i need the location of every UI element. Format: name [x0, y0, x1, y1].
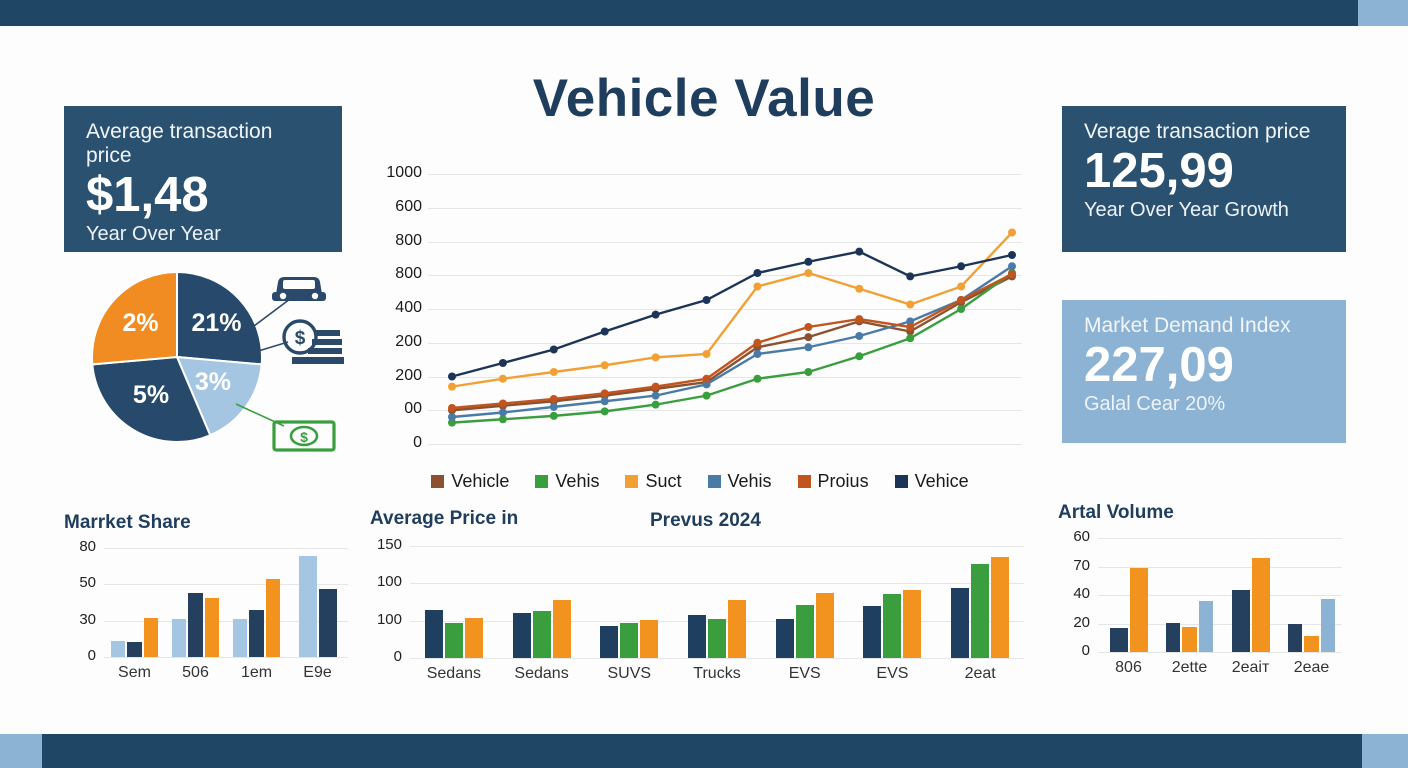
kpi-card-average-transaction-price-right: Verage transaction price 125,99 Year Ove…	[1062, 106, 1346, 252]
kpi-label: Average transaction price	[86, 120, 320, 168]
bar[interactable]	[688, 615, 706, 658]
bar[interactable]	[205, 598, 220, 657]
bar[interactable]	[1199, 601, 1214, 652]
legend-swatch	[431, 475, 444, 488]
legend-label: Suct	[645, 471, 681, 492]
kpi-card-market-demand-index: Market Demand Index 227,09 Galal Cear 20…	[1062, 300, 1346, 443]
bar[interactable]	[188, 593, 203, 657]
data-point[interactable]	[499, 400, 507, 408]
grid-line	[1098, 538, 1342, 539]
bar[interactable]	[533, 611, 551, 658]
x-axis-category-label: 2eaiт	[1220, 659, 1281, 677]
data-point[interactable]	[652, 383, 660, 391]
grid-line	[1098, 652, 1342, 653]
data-point[interactable]	[448, 373, 456, 381]
x-axis-category-label: 2eae	[1281, 659, 1342, 677]
data-point[interactable]	[906, 272, 914, 280]
banknote-icon: $	[272, 418, 338, 454]
bar[interactable]	[127, 642, 142, 657]
average-price-panel: Average Price inPrevus 20241501001000Sed…	[370, 508, 1030, 688]
vehicle-value-line-chart	[370, 160, 1030, 460]
kpi-value: 125,99	[1084, 146, 1324, 197]
line-series[interactable]	[452, 266, 1012, 417]
kpi-card-average-transaction-price-left: Average transaction price $1,48 Year Ove…	[64, 106, 342, 252]
y-axis-tick-label: 100	[370, 573, 402, 590]
bar[interactable]	[600, 626, 618, 658]
data-point[interactable]	[753, 375, 761, 383]
bar[interactable]	[796, 605, 814, 658]
data-point[interactable]	[499, 409, 507, 417]
bar[interactable]	[1304, 636, 1319, 652]
bar[interactable]	[620, 623, 638, 658]
pie-slice-label: 5%	[133, 381, 169, 410]
bar[interactable]	[233, 619, 248, 657]
bar[interactable]	[903, 590, 921, 658]
bar[interactable]	[319, 589, 337, 657]
data-point[interactable]	[1008, 262, 1016, 270]
x-axis-category-label: 806	[1098, 659, 1159, 677]
bar[interactable]	[513, 613, 531, 658]
bar[interactable]	[971, 564, 989, 658]
data-point[interactable]	[906, 323, 914, 331]
bar[interactable]	[728, 600, 746, 658]
svg-text:$: $	[300, 429, 308, 445]
y-axis-tick-label: 50	[64, 574, 96, 591]
bar[interactable]	[951, 588, 969, 658]
data-point[interactable]	[855, 352, 863, 360]
data-point[interactable]	[855, 285, 863, 293]
bar[interactable]	[1182, 627, 1197, 652]
grid-line	[410, 546, 1024, 547]
data-point[interactable]	[550, 368, 558, 376]
data-point[interactable]	[652, 353, 660, 361]
x-axis-category-label: SUVS	[585, 665, 673, 683]
data-point[interactable]	[448, 413, 456, 421]
money-stack-icon: $	[278, 317, 348, 369]
line-chart-legend: VehicleVehisSuctVehisProiusVehice	[370, 471, 1030, 492]
legend-item[interactable]: Vehice	[895, 471, 969, 492]
legend-item[interactable]: Suct	[625, 471, 681, 492]
data-point[interactable]	[804, 343, 812, 351]
bar[interactable]	[1321, 599, 1336, 652]
legend-label: Vehice	[915, 471, 969, 492]
market-share-panel: Marrket Share8050300Sem5061emE9e	[64, 512, 354, 687]
data-point[interactable]	[753, 339, 761, 347]
bar[interactable]	[425, 610, 443, 658]
x-axis-category-label: Sedans	[410, 665, 498, 683]
bar[interactable]	[863, 606, 881, 658]
line-series[interactable]	[452, 276, 1012, 410]
y-axis-tick-label: 100	[370, 611, 402, 628]
data-point[interactable]	[601, 389, 609, 397]
bar[interactable]	[1288, 624, 1303, 652]
data-point[interactable]	[804, 269, 812, 277]
legend-label: Vehis	[555, 471, 599, 492]
panel-title: Average Price in	[370, 508, 518, 530]
grid-line	[410, 583, 1024, 584]
legend-label: Proius	[818, 471, 869, 492]
data-point[interactable]	[957, 262, 965, 270]
y-axis-tick-label: 60	[1058, 528, 1090, 545]
y-axis-tick-label: 0	[1058, 642, 1090, 659]
kpi-label: Verage transaction price	[1084, 120, 1324, 144]
data-point[interactable]	[804, 323, 812, 331]
bottom-banner-bar	[0, 734, 1408, 768]
data-point[interactable]	[906, 301, 914, 309]
kpi-value: $1,48	[86, 170, 320, 221]
bar[interactable]	[1232, 590, 1250, 652]
data-point[interactable]	[601, 407, 609, 415]
data-point[interactable]	[1008, 229, 1016, 237]
legend-swatch	[798, 475, 811, 488]
data-point[interactable]	[906, 334, 914, 342]
y-axis-tick-label: 80	[64, 538, 96, 555]
x-axis-category-label: 1em	[226, 664, 287, 682]
bar[interactable]	[465, 618, 483, 658]
bar[interactable]	[1130, 568, 1148, 652]
grid-line	[1098, 567, 1342, 568]
data-point[interactable]	[804, 258, 812, 266]
bar[interactable]	[553, 600, 571, 658]
pie-slice-label: 2%	[123, 309, 159, 338]
panel-title: Artal Volume	[1058, 502, 1174, 524]
data-point[interactable]	[550, 403, 558, 411]
y-axis-tick-label: 0	[64, 647, 96, 664]
x-axis-category-label: 2eat	[936, 665, 1024, 683]
data-point[interactable]	[448, 404, 456, 412]
pie-slice-label: 3%	[195, 368, 231, 397]
legend-label: Vehicle	[451, 471, 509, 492]
volume-panel: Artal Volume6070402008062ette2eaiт2eae	[1058, 502, 1348, 682]
car-icon	[268, 266, 330, 306]
data-point[interactable]	[753, 350, 761, 358]
data-point[interactable]	[550, 412, 558, 420]
top-banner-accent	[1358, 0, 1408, 26]
pie-callout-icons: $ $	[262, 272, 357, 447]
bar[interactable]	[249, 610, 264, 657]
data-point[interactable]	[703, 375, 711, 383]
bar[interactable]	[708, 619, 726, 658]
panel-title: Marrket Share	[64, 512, 191, 534]
line-series-group	[370, 160, 1030, 460]
x-axis-category-label: Trucks	[673, 665, 761, 683]
grid-line	[410, 658, 1024, 659]
bar[interactable]	[266, 579, 281, 657]
data-point[interactable]	[957, 283, 965, 291]
data-point[interactable]	[957, 305, 965, 313]
data-point[interactable]	[601, 361, 609, 369]
grid-line	[104, 548, 348, 549]
data-point[interactable]	[499, 375, 507, 383]
legend-item[interactable]: Vehis	[708, 471, 772, 492]
bottom-banner-middle	[42, 734, 1362, 768]
legend-label: Vehis	[728, 471, 772, 492]
bar[interactable]	[111, 641, 126, 657]
svg-text:$: $	[295, 328, 306, 349]
panel-subtitle: Prevus 2024	[650, 510, 761, 532]
y-axis-tick-label: 30	[64, 611, 96, 628]
data-point[interactable]	[703, 350, 711, 358]
data-point[interactable]	[499, 359, 507, 367]
data-point[interactable]	[703, 392, 711, 400]
bar[interactable]	[1252, 558, 1270, 652]
legend-swatch	[708, 475, 721, 488]
x-axis-category-label: Sem	[104, 664, 165, 682]
pie-slice-label: 21%	[191, 309, 241, 338]
top-banner-bar	[0, 0, 1408, 26]
kpi-subtitle: Year Over Year Growth	[1084, 199, 1324, 222]
bar[interactable]	[299, 556, 317, 657]
bar[interactable]	[144, 618, 159, 657]
bar[interactable]	[640, 620, 658, 658]
data-point[interactable]	[448, 383, 456, 391]
data-point[interactable]	[652, 401, 660, 409]
bar[interactable]	[172, 619, 187, 657]
data-point[interactable]	[550, 346, 558, 354]
data-point[interactable]	[804, 368, 812, 376]
kpi-label: Market Demand Index	[1084, 314, 1324, 338]
data-point[interactable]	[855, 332, 863, 340]
x-axis-category-label: EVS	[849, 665, 937, 683]
bar[interactable]	[1110, 628, 1128, 652]
y-axis-tick-label: 150	[370, 536, 402, 553]
y-axis-tick-label: 0	[370, 648, 402, 665]
x-axis-category-label: 506	[165, 664, 226, 682]
legend-swatch	[895, 475, 908, 488]
data-point[interactable]	[652, 392, 660, 400]
kpi-subtitle: Year Over Year	[86, 223, 320, 246]
bar[interactable]	[445, 623, 463, 658]
legend-swatch	[535, 475, 548, 488]
data-point[interactable]	[703, 296, 711, 304]
data-point[interactable]	[855, 248, 863, 256]
bar[interactable]	[776, 619, 794, 658]
data-point[interactable]	[855, 315, 863, 323]
y-axis-tick-label: 40	[1058, 585, 1090, 602]
bar[interactable]	[991, 557, 1009, 658]
y-axis-tick-label: 70	[1058, 557, 1090, 574]
data-point[interactable]	[550, 395, 558, 403]
legend-item[interactable]: Proius	[798, 471, 869, 492]
bar[interactable]	[816, 593, 834, 658]
data-point[interactable]	[601, 397, 609, 405]
x-axis-category-label: E9e	[287, 664, 348, 682]
data-point[interactable]	[1008, 251, 1016, 259]
y-axis-tick-label: 20	[1058, 614, 1090, 631]
data-point[interactable]	[652, 311, 660, 319]
data-point[interactable]	[601, 328, 609, 336]
kpi-subtitle: Galal Cear 20%	[1084, 393, 1324, 416]
x-axis-category-label: 2ette	[1159, 659, 1220, 677]
legend-item[interactable]: Vehicle	[431, 471, 509, 492]
kpi-value: 227,09	[1084, 340, 1324, 391]
data-point[interactable]	[957, 296, 965, 304]
data-point[interactable]	[753, 269, 761, 277]
x-axis-category-label: EVS	[761, 665, 849, 683]
bar[interactable]	[1166, 623, 1181, 652]
data-point[interactable]	[1008, 270, 1016, 278]
x-axis-category-label: Sedans	[498, 665, 586, 683]
data-point[interactable]	[804, 333, 812, 341]
data-point[interactable]	[753, 283, 761, 291]
dashboard-page: Vehicle Value Average transaction price …	[0, 0, 1408, 768]
legend-swatch	[625, 475, 638, 488]
bar[interactable]	[883, 594, 901, 658]
legend-item[interactable]: Vehis	[535, 471, 599, 492]
grid-line	[104, 657, 348, 658]
